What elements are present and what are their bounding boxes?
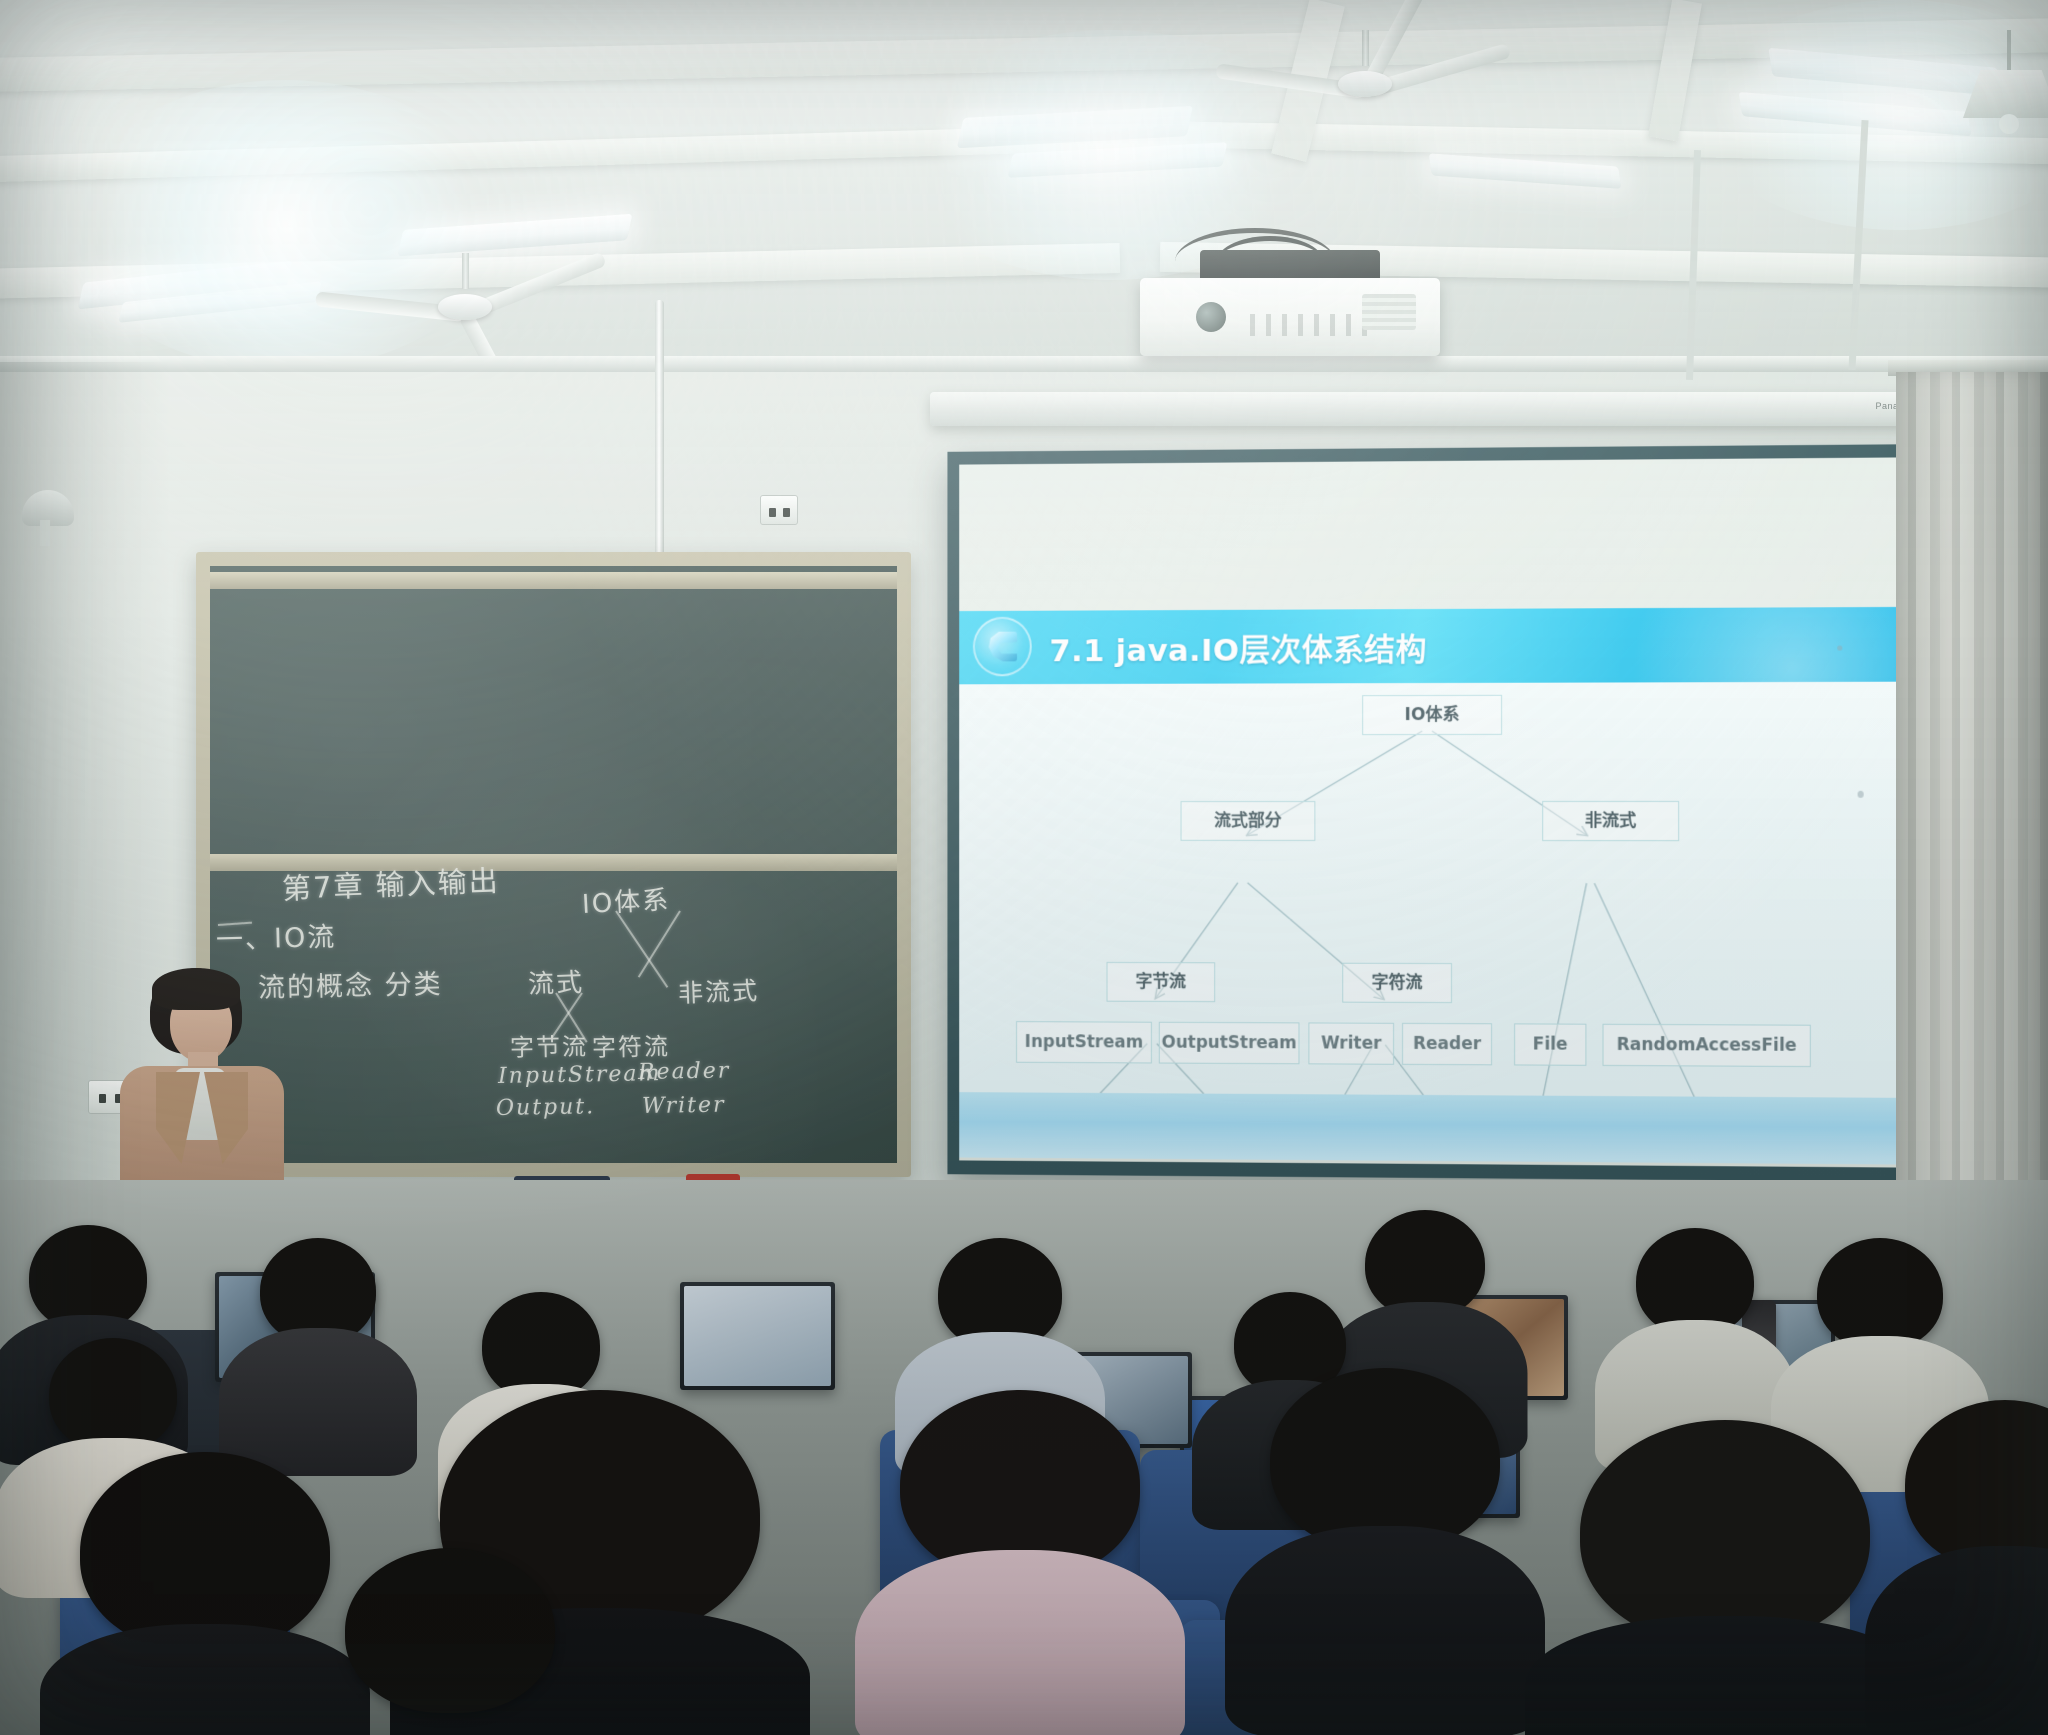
diagram-node-char-stream: 字符流 — [1342, 963, 1452, 1003]
blackboard-code-3: Output. — [496, 1094, 596, 1121]
projector-lens-icon — [1196, 302, 1226, 332]
projection-screen-housing: Panasonic — [930, 392, 1940, 426]
blackboard-tree-child-1: 字节流 — [510, 1027, 589, 1063]
diagram-node-randomaccessfile: RandomAccessFile — [1603, 1024, 1811, 1067]
diagram-node-outputstream: OutputStream — [1159, 1022, 1300, 1065]
pendant-lamp-icon — [1955, 30, 2048, 150]
screen-speck — [1837, 646, 1842, 651]
power-outlet-icon[interactable] — [760, 495, 798, 525]
student-foreground — [1240, 1368, 1530, 1728]
fluorescent-light-icon — [397, 214, 632, 257]
diagram-node-nonstream: 非流式 — [1542, 801, 1679, 841]
blackboard-code-2: Reader — [638, 1058, 731, 1085]
diagram-node-stream: 流式部分 — [1181, 801, 1316, 841]
projector-vent — [1362, 294, 1416, 330]
blackboard: 第7章 输入输出 一、IO流 流的概念 分类 IO体系 流式 非流式 字节流 字… — [210, 566, 897, 1163]
blackboard-frame: 第7章 输入输出 一、IO流 流的概念 分类 IO体系 流式 非流式 字节流 字… — [196, 552, 911, 1177]
wall-ledge — [0, 356, 2048, 372]
slide-body: IO体系 流式部分 非流式 字节流 字符流 InputStream Output… — [959, 682, 1914, 1098]
screen-canvas: 7.1 java.IO层次体系结构 — [959, 457, 1914, 1167]
diagram-node-root: IO体系 — [1362, 695, 1502, 735]
ceiling-fan-icon — [1200, 62, 1530, 106]
blackboard-tree-right: 非流式 — [677, 971, 759, 1010]
blackboard-line-1: 一、IO流 — [215, 915, 336, 957]
blackboard-code-4: Writer — [642, 1093, 726, 1119]
fluorescent-light-icon — [1429, 153, 1622, 189]
diagram-node-file: File — [1514, 1023, 1586, 1065]
circular-brand-logo-icon — [973, 617, 1032, 677]
student — [228, 1238, 408, 1468]
slide-title: 7.1 java.IO层次体系结构 — [1049, 624, 1426, 670]
ceiling — [0, 0, 2048, 400]
ceiling-fan-icon — [300, 285, 630, 329]
classroom-photo: 第7章 输入输出 一、IO流 流的概念 分类 IO体系 流式 非流式 字节流 字… — [0, 0, 2048, 1735]
slide-footer-band — [959, 1092, 1914, 1164]
blackboard-title: 第7章 输入输出 — [281, 858, 500, 908]
diagram-node-inputstream: InputStream — [1016, 1021, 1152, 1063]
ceiling-beam — [0, 18, 2048, 93]
student-foreground — [1560, 1420, 1890, 1735]
blackboard-tree-root: IO体系 — [581, 879, 671, 921]
fluorescent-light-icon — [1739, 92, 1972, 136]
window-curtain[interactable] — [1896, 372, 2048, 1272]
ceiling-projector-icon — [1140, 278, 1440, 356]
ceiling-beam — [1648, 0, 1702, 142]
student-foreground — [1880, 1400, 2048, 1735]
slide-title-bar: 7.1 java.IO层次体系结构 — [959, 607, 1914, 684]
projector-ports — [1250, 314, 1370, 336]
student-foreground — [870, 1390, 1170, 1735]
student-foreground — [60, 1452, 350, 1735]
diagram-node-byte-stream: 字节流 — [1107, 962, 1216, 1002]
projection-screen: 7.1 java.IO层次体系结构 — [947, 444, 1926, 1182]
diagram-node-writer: Writer — [1308, 1022, 1394, 1064]
chalk-rail — [210, 572, 897, 589]
student-foreground — [320, 1548, 580, 1735]
diagram-node-reader: Reader — [1402, 1023, 1492, 1065]
screen-speck — [1858, 791, 1864, 798]
computer-monitor[interactable] — [680, 1282, 835, 1390]
blackboard-tree-child-2: 字符流 — [592, 1027, 671, 1063]
presentation-slide: 7.1 java.IO层次体系结构 — [959, 607, 1914, 1165]
